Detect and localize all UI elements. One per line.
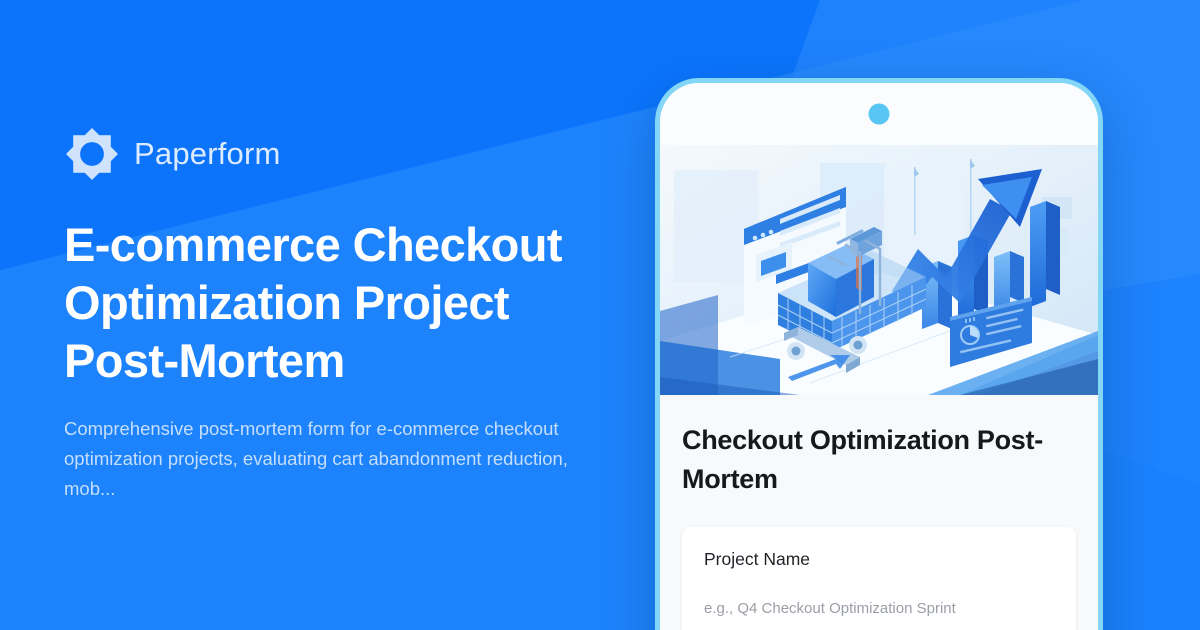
page-description: Comprehensive post-mortem form for e-com…: [64, 414, 584, 504]
brand-lockup[interactable]: Paperform: [64, 126, 624, 182]
hero-text-column: Paperform E-commerce Checkout Optimizati…: [64, 0, 624, 630]
page-title: E-commerce Checkout Optimization Project…: [64, 216, 584, 390]
form-cover-image: [660, 145, 1098, 395]
form-preview: Checkout Optimization Post-Mortem Projec…: [660, 395, 1098, 630]
phone-mockup: Checkout Optimization Post-Mortem Projec…: [655, 78, 1103, 630]
phone-status-bar: [660, 83, 1098, 145]
camera-dot-icon: [869, 104, 890, 125]
form-field-card[interactable]: Project Name e.g., Q4 Checkout Optimizat…: [682, 527, 1076, 630]
form-title: Checkout Optimization Post-Mortem: [682, 421, 1076, 499]
og-image-canvas: Paperform E-commerce Checkout Optimizati…: [0, 0, 1200, 630]
paperform-logo-icon: [64, 126, 120, 182]
project-name-input[interactable]: e.g., Q4 Checkout Optimization Sprint: [704, 600, 1054, 630]
field-label-project-name: Project Name: [704, 549, 1054, 570]
brand-name: Paperform: [134, 136, 281, 172]
